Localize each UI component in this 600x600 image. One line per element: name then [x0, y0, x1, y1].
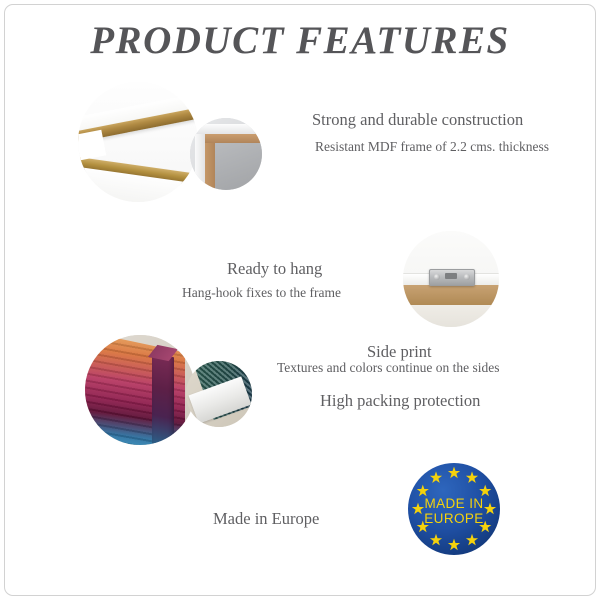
feature-heading-made-in-europe: Made in Europe — [213, 509, 319, 529]
feature-heading-packing-protection: High packing protection — [320, 391, 480, 411]
feature-subtext-side-print: Textures and colors continue on the side… — [277, 360, 500, 376]
frame-inset-edge-top — [195, 124, 262, 134]
feature-heading-side-print: Side print — [367, 342, 432, 362]
feature-heading-ready-to-hang: Ready to hang — [227, 259, 322, 279]
hook-wood-strip — [403, 285, 499, 305]
mdf-frame-corner-photo — [78, 82, 198, 202]
feature-subtext-ready-to-hang: Hang-hook fixes to the frame — [182, 285, 341, 301]
frame-corner-notch — [78, 130, 106, 160]
page-title: PRODUCT FEATURES — [0, 18, 600, 63]
side-print-canvas-photo — [85, 335, 195, 445]
packing-foam-corner-photo — [186, 361, 252, 427]
frame-cross-section-photo — [190, 118, 262, 190]
frame-inset-canvas-face — [212, 140, 262, 190]
made-in-europe-badge: MADE IN EUROPE — [406, 461, 502, 557]
bracket-slot — [445, 273, 457, 279]
badge-text-line2: EUROPE — [424, 511, 483, 526]
hook-lower-shade — [403, 305, 499, 327]
canvas-printed-side-edge — [152, 353, 174, 445]
hang-hook-bracket-photo — [403, 231, 499, 327]
feature-subtext-durable-construction: Resistant MDF frame of 2.2 cms. thicknes… — [315, 139, 549, 155]
badge-text-line1: MADE IN — [424, 496, 483, 511]
infographic-canvas: PRODUCT FEATURES Strong and durable cons… — [0, 0, 600, 600]
feature-heading-durable-construction: Strong and durable construction — [312, 110, 523, 130]
